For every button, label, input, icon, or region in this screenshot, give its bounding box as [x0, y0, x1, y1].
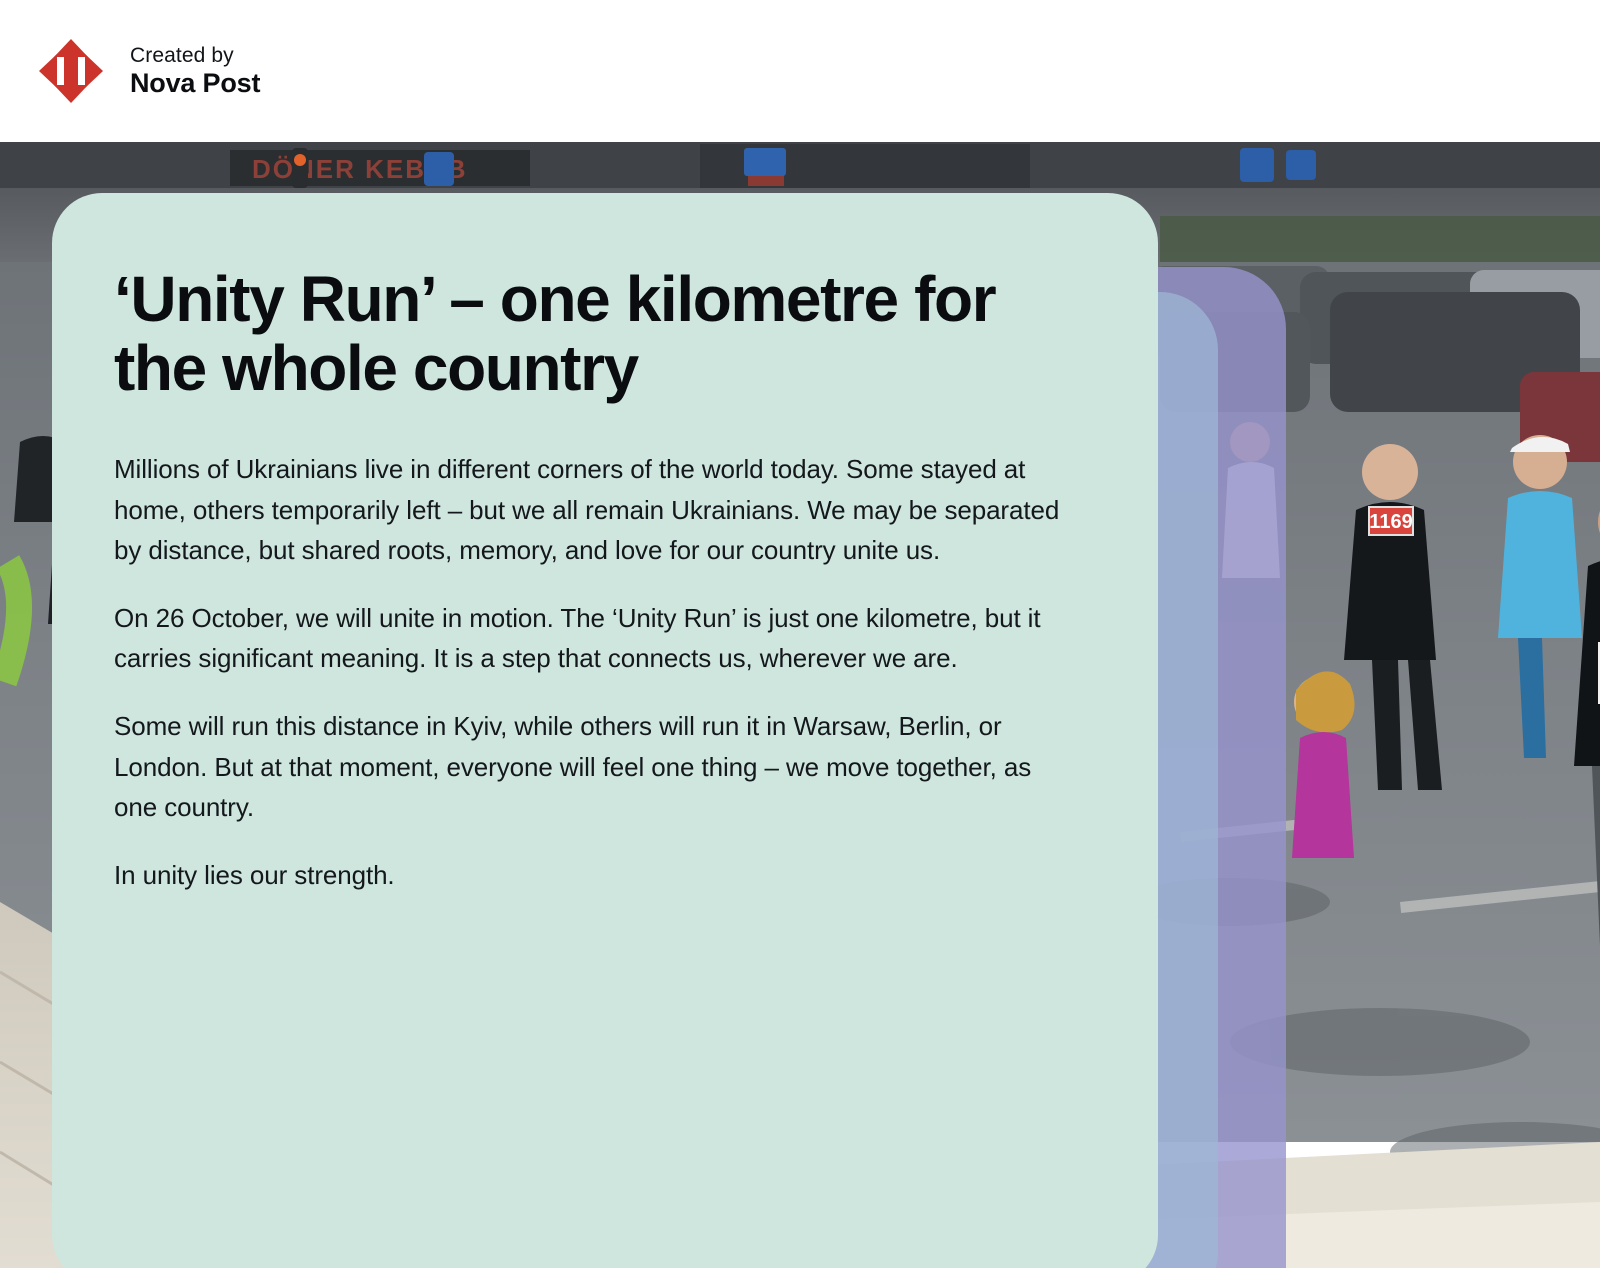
header-bar: Created by Nova Post	[0, 0, 1600, 142]
body-paragraph-1: Millions of Ukrainians live in different…	[114, 449, 1074, 571]
nova-post-h-arrows-logo-icon	[36, 36, 106, 106]
brand-name-label: Nova Post	[130, 68, 260, 98]
created-by-label: Created by	[130, 44, 260, 68]
brand-text-block: Created by Nova Post	[130, 44, 260, 98]
body-paragraph-2: On 26 October, we will unite in motion. …	[114, 598, 1074, 679]
content-card: ‘Unity Run’ – one kilometre for the whol…	[52, 193, 1158, 1268]
card-stack: ‘Unity Run’ – one kilometre for the whol…	[0, 142, 1600, 1268]
body-paragraph-4: In unity lies our strength.	[114, 855, 1074, 896]
page-title: ‘Unity Run’ – one kilometre for the whol…	[114, 265, 1074, 403]
page-root: Created by Nova Post	[0, 0, 1600, 1268]
brand-lockup[interactable]: Created by Nova Post	[36, 36, 260, 106]
body-paragraph-3: Some will run this distance in Kyiv, whi…	[114, 706, 1074, 828]
